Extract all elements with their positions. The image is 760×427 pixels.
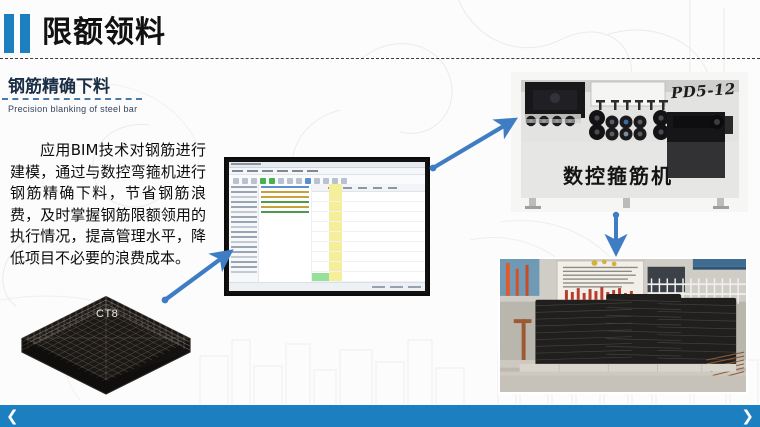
prev-slide-icon[interactable]: ❮ [6,409,19,424]
title-divider [0,58,760,59]
slide-canvas: 限额领料 钢筋精确下料 Precision blanking of steel … [0,0,760,427]
software-main-area [229,184,425,283]
table-row[interactable] [312,272,425,282]
arrow-software-to-machine [428,112,524,174]
table-row[interactable] [312,212,425,222]
software-project-tree[interactable] [259,184,312,283]
body-paragraph: 应用BIM技术对钢筋进行建模，通过与数控弯箍机进行钢筋精确下料，节省钢筋浪费，及… [10,140,206,269]
software-titlebar [229,162,425,168]
cnc-stirrup-machine-photo: PD5-12 数控箍筋机 [511,72,748,212]
table-row[interactable] [312,202,425,212]
software-window [229,162,425,291]
software-grid-rows [312,192,425,283]
machine-name-label: 数控箍筋机 [563,160,673,189]
model-label: CT8 [96,308,118,320]
stacked-stirrups-site-photo [498,257,748,394]
section-heading-divider [2,98,142,100]
software-sidebar-tree[interactable] [229,184,259,283]
table-row[interactable] [312,192,425,202]
table-row[interactable] [312,262,425,272]
table-row[interactable] [312,232,425,242]
next-slide-icon[interactable]: ❯ [741,409,754,424]
bim-software-screenshot[interactable] [224,157,430,296]
section-heading-en: Precision blanking of steel bar [8,104,137,114]
table-row[interactable] [312,252,425,262]
software-menubar[interactable] [229,168,425,175]
title-accent-bars [4,14,30,53]
software-statusbar [229,282,425,291]
table-row[interactable] [312,242,425,252]
page-title: 限额领料 [42,14,166,52]
slide-nav-bar: ❮ ❯ [0,405,760,427]
arrow-machine-to-site [608,212,624,258]
software-data-grid[interactable] [312,184,425,283]
table-row[interactable] [312,222,425,232]
section-heading-cn: 钢筋精确下料 [8,72,110,97]
